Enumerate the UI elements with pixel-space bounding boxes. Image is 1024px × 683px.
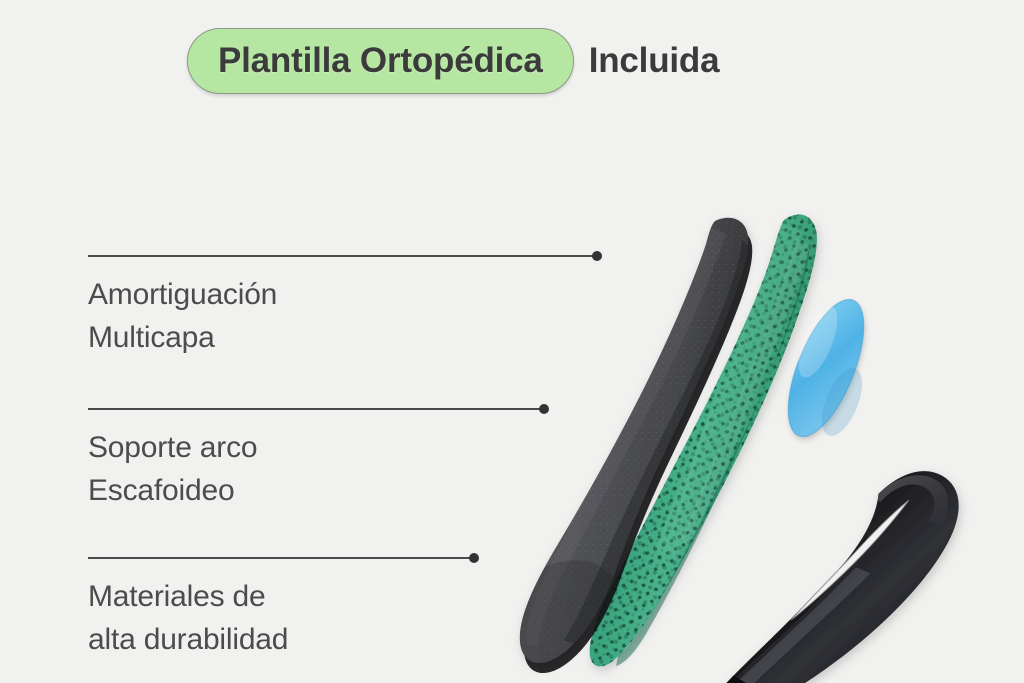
feature-label-arch-support: Soporte arco Escafoideo [88, 426, 257, 512]
feature-callout-durability: Materiales de alta durabilidad [88, 553, 288, 661]
leader-line [88, 553, 288, 563]
headline: Plantilla Ortopédica Incluida [187, 28, 719, 94]
black-arch-support [712, 471, 959, 683]
leader-line [88, 404, 257, 414]
leader-rule [88, 408, 540, 410]
headline-pill-label: Plantilla Ortopédica [218, 41, 543, 81]
headline-suffix-label: Incluida [589, 41, 720, 81]
feature-label-cushioning: Amortiguación Multicapa [88, 273, 277, 359]
product-image-orthopedic-insole [500, 180, 1024, 683]
feature-callout-arch-support: Soporte arco Escafoideo [88, 404, 257, 512]
leader-dot-icon [469, 553, 479, 563]
headline-pill: Plantilla Ortopédica [187, 28, 574, 94]
feature-label-durability: Materiales de alta durabilidad [88, 575, 288, 661]
feature-callout-cushioning: Amortiguación Multicapa [88, 251, 277, 359]
leader-rule [88, 557, 470, 559]
leader-line [88, 251, 277, 261]
